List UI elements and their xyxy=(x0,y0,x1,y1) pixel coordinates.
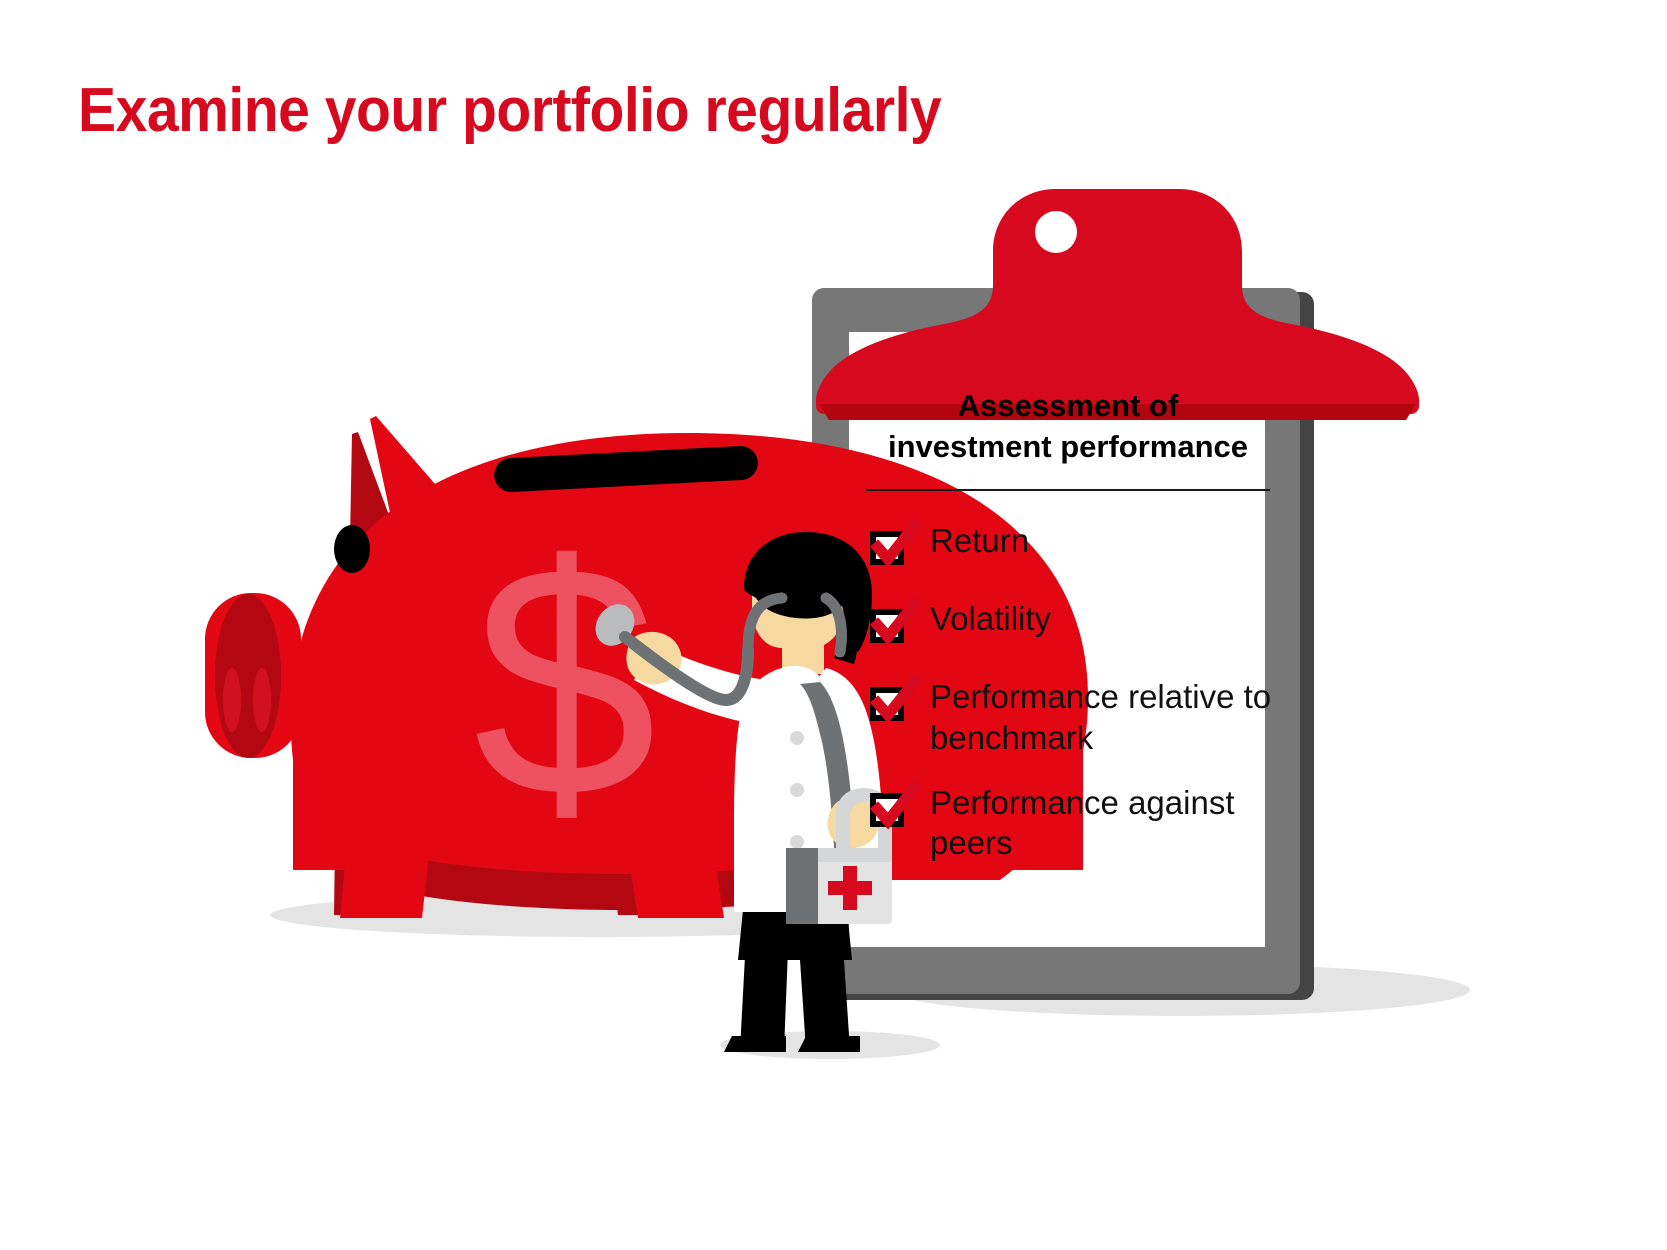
clipboard-heading: Assessment of investment performance xyxy=(858,385,1278,467)
checklist: Return Volatility Performance relative t… xyxy=(858,521,1278,863)
clip-hole xyxy=(1035,211,1077,253)
checkbox-square-icon xyxy=(870,531,904,565)
checklist-item-volatility[interactable]: Volatility xyxy=(868,599,1278,647)
checkbox-square-icon xyxy=(870,793,904,827)
checklist-item-peers[interactable]: Performance against peers xyxy=(868,783,1278,864)
clipboard-heading-line1: Assessment of xyxy=(864,385,1272,426)
coat-button-1 xyxy=(790,731,804,745)
checkbox-square-icon xyxy=(870,687,904,721)
checkbox-square-icon xyxy=(870,609,904,643)
bag-lid-strip-dark xyxy=(786,848,818,862)
coat-button-2 xyxy=(790,783,804,797)
clipboard-divider xyxy=(866,489,1270,491)
checklist-label: Performance against peers xyxy=(930,783,1275,864)
checkbox-peers[interactable] xyxy=(868,787,914,831)
piggy-eye xyxy=(334,525,370,573)
checkbox-volatility[interactable] xyxy=(868,603,914,647)
checklist-label: Performance relative to benchmark xyxy=(930,677,1275,758)
checklist-item-benchmark[interactable]: Performance relative to benchmark xyxy=(868,677,1278,758)
clipboard-heading-line2: investment performance xyxy=(864,426,1272,467)
checkbox-benchmark[interactable] xyxy=(868,681,914,725)
doctor-shoe-right xyxy=(798,1036,860,1052)
piggy-snout-face xyxy=(215,594,281,758)
piggy-nostril-right xyxy=(253,668,271,732)
illustration-canvas: $ xyxy=(0,0,1667,1250)
coat-button-3 xyxy=(790,835,804,849)
piggy-dollar-symbol: $ xyxy=(473,496,657,865)
piggy-leg-front-left xyxy=(340,790,436,918)
checkbox-return[interactable] xyxy=(868,525,914,569)
piggy-nostril-left xyxy=(223,668,241,732)
checklist-item-return[interactable]: Return xyxy=(868,521,1278,569)
clipboard-content: Assessment of investment performance Ret… xyxy=(858,385,1278,905)
checklist-label: Volatility xyxy=(930,599,1051,640)
checklist-label: Return xyxy=(930,521,1029,562)
doctor-shoe-left xyxy=(724,1036,786,1052)
